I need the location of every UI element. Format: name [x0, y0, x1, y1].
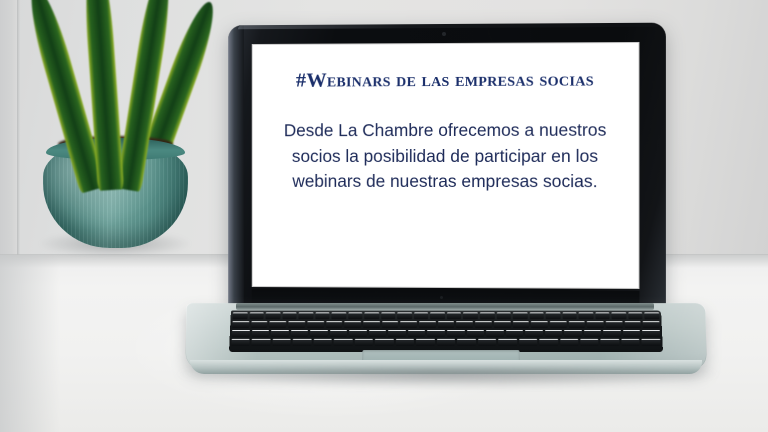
keyboard-key[interactable]	[513, 312, 528, 319]
keyboard-key[interactable]	[363, 321, 380, 328]
keyboard-key[interactable]	[595, 312, 610, 319]
keyboard-key[interactable]	[457, 339, 476, 346]
keyboard-key[interactable]	[564, 330, 582, 337]
keyboard-key[interactable]	[251, 321, 268, 328]
keyboard-key[interactable]	[290, 330, 308, 337]
keyboard-key[interactable]	[480, 312, 495, 319]
keyboard-key[interactable]	[628, 312, 643, 319]
keyboard-key[interactable]	[334, 339, 353, 346]
keyboard-key[interactable]	[400, 321, 417, 328]
keyboard-key[interactable]	[313, 339, 332, 346]
keyboard-key[interactable]	[579, 312, 594, 319]
keyboard-key[interactable]	[606, 321, 623, 328]
keyboard-key[interactable]	[562, 312, 577, 319]
table-left-shadow	[0, 255, 60, 432]
slide-body: Desde La Chambre ofrecemos a nuestros so…	[269, 118, 621, 195]
keyboard-key[interactable]	[397, 312, 412, 319]
keyboard-key[interactable]	[344, 321, 361, 328]
keyboard-key[interactable]	[550, 321, 567, 328]
slide-title: #Webinars de las empresas socias	[264, 68, 628, 92]
keyboard-key[interactable]	[430, 312, 444, 319]
keyboard-key[interactable]	[580, 339, 599, 346]
keyboard-key[interactable]	[438, 321, 455, 328]
keyboard-key[interactable]	[381, 312, 396, 319]
keyboard-key[interactable]	[349, 330, 367, 337]
keyboard-key[interactable]	[272, 339, 291, 346]
wall-corner-edge	[17, 0, 20, 268]
keyboard-key[interactable]	[270, 321, 287, 328]
keyboard-key[interactable]	[310, 330, 328, 337]
keyboard-key[interactable]	[348, 312, 363, 319]
slide-body-line: Desde La Chambre ofrecemos a nuestros	[269, 118, 621, 144]
keyboard-key[interactable]	[456, 321, 473, 328]
keyboard-key[interactable]	[643, 321, 660, 328]
keyboard-key[interactable]	[299, 312, 314, 319]
laptop-drop-shadow	[178, 368, 718, 388]
keyboard-key[interactable]	[355, 339, 374, 346]
lid-logo-icon	[440, 296, 443, 299]
keyboard-key[interactable]	[427, 330, 445, 337]
keyboard-row	[230, 321, 662, 328]
keyboard-key[interactable]	[644, 312, 659, 319]
slide-body-line: socios la posibilidad de participar en l…	[269, 143, 621, 169]
keyboard-key[interactable]	[545, 330, 563, 337]
slide-content: #Webinars de las empresas socias Desde L…	[252, 42, 640, 289]
keyboard-key[interactable]	[623, 330, 641, 337]
laptop-lid: #Webinars de las empresas socias Desde L…	[228, 23, 666, 312]
keyboard-key[interactable]	[232, 321, 249, 328]
webcam-icon	[442, 32, 446, 36]
keyboard-key[interactable]	[601, 339, 620, 346]
keyboard-row	[230, 330, 663, 337]
keyboard-key[interactable]	[331, 312, 346, 319]
keyboard-key[interactable]	[315, 312, 330, 319]
keyboard-key[interactable]	[396, 339, 415, 346]
keyboard-key[interactable]	[375, 339, 394, 346]
keyboard-key[interactable]	[568, 321, 585, 328]
keyboard-key[interactable]	[642, 339, 661, 346]
lid-left-highlight	[228, 25, 244, 309]
keyboard-key[interactable]	[414, 312, 429, 319]
keyboard-key[interactable]	[447, 312, 461, 319]
keyboard-key[interactable]	[624, 321, 641, 328]
keyboard-key[interactable]	[249, 312, 264, 319]
photo-scene: #Webinars de las empresas socias Desde L…	[0, 0, 768, 432]
keyboard-key[interactable]	[447, 330, 465, 337]
keyboard-key[interactable]	[288, 321, 305, 328]
keyboard-key[interactable]	[467, 330, 485, 337]
keyboard-key[interactable]	[251, 330, 269, 337]
keyboard-key[interactable]	[282, 312, 297, 319]
keyboard-key[interactable]	[531, 321, 548, 328]
keyboard-key[interactable]	[307, 321, 324, 328]
keyboard-key[interactable]	[252, 339, 271, 346]
keyboard-key[interactable]	[546, 312, 561, 319]
keyboard-key[interactable]	[233, 312, 248, 319]
keyboard-key[interactable]	[486, 330, 504, 337]
keyboard-key[interactable]	[560, 339, 579, 346]
keyboard-key[interactable]	[539, 339, 558, 346]
keyboard-key[interactable]	[408, 330, 426, 337]
keyboard-key[interactable]	[330, 330, 348, 337]
keyboard-key[interactable]	[419, 321, 436, 328]
keyboard-key[interactable]	[519, 339, 538, 346]
keyboard-key[interactable]	[364, 312, 379, 319]
keyboard-key[interactable]	[478, 339, 497, 346]
keyboard-key[interactable]	[463, 312, 478, 319]
keyboard-key[interactable]	[642, 330, 660, 337]
keyboard-key[interactable]	[496, 312, 511, 319]
keyboard-key[interactable]	[587, 321, 604, 328]
keyboard-key[interactable]	[506, 330, 524, 337]
slide-body-line: webinars de nuestras empresas socias.	[269, 169, 621, 195]
keyboard-key[interactable]	[326, 321, 343, 328]
keyboard-key[interactable]	[266, 312, 281, 319]
keyboard-key[interactable]	[498, 339, 517, 346]
keyboard-row	[231, 312, 662, 319]
laptop-keyboard[interactable]	[229, 310, 663, 351]
keyboard-key[interactable]	[369, 330, 387, 337]
keyboard-key[interactable]	[416, 339, 435, 346]
keyboard-key[interactable]	[382, 321, 399, 328]
keyboard-key[interactable]	[621, 339, 640, 346]
keyboard-key[interactable]	[494, 321, 511, 328]
keyboard-key[interactable]	[584, 330, 602, 337]
keyboard-key[interactable]	[529, 312, 544, 319]
laptop-hinge	[236, 303, 654, 310]
keyboard-key[interactable]	[231, 339, 250, 346]
keyboard-key[interactable]	[271, 330, 289, 337]
keyboard-row	[229, 339, 662, 346]
keyboard-key[interactable]	[388, 330, 406, 337]
keyboard-key[interactable]	[437, 339, 456, 346]
keyboard-key[interactable]	[603, 330, 621, 337]
laptop-screen[interactable]: #Webinars de las empresas socias Desde L…	[252, 42, 640, 289]
keyboard-key[interactable]	[475, 321, 492, 328]
keyboard-key[interactable]	[232, 330, 250, 337]
keyboard-key[interactable]	[525, 330, 543, 337]
keyboard-key[interactable]	[612, 312, 627, 319]
keyboard-key[interactable]	[293, 339, 312, 346]
keyboard-key[interactable]	[512, 321, 529, 328]
